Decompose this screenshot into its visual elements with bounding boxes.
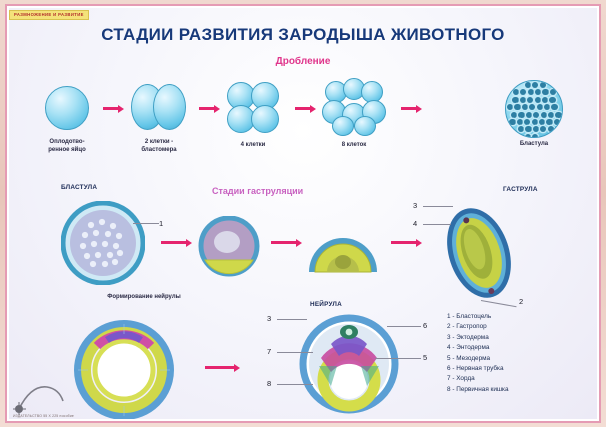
neurula-callout-5: 5 [423, 353, 427, 362]
blastula-cell-dot [525, 134, 531, 138]
legend-item-1: 1 - Бластоцель [447, 312, 509, 322]
blastula-cell-dot [532, 119, 538, 125]
blastula-cell-dot [511, 112, 517, 118]
cleavage-stage-2-label: 2 клетки - бластомера [119, 139, 199, 154]
blastula-cell-dot [551, 104, 557, 110]
neurula-cross-section [297, 310, 401, 414]
blastula-cell-dot [509, 119, 515, 125]
legend-item-7: 7 - Хорда [447, 374, 509, 384]
subtitle-cleavage: Дробление [9, 56, 597, 67]
blastula-cell-dot [525, 126, 531, 132]
cleavage-stage-1-label: Оплодотво- ренное яйцо [27, 139, 107, 154]
blastula-cell-dot [514, 104, 520, 110]
blastula-callout-leader [133, 223, 159, 224]
blastula-section-caption: БЛАСТУЛА [61, 184, 97, 191]
legend-item-8: 8 - Первичная кишка [447, 385, 509, 395]
category-tag: РАЗМНОЖЕНИЕ И РАЗВИТИЕ [9, 10, 89, 20]
neurula-callout-5-leader [375, 358, 421, 359]
page-title: СТАДИИ РАЗВИТИЯ ЗАРОДЫША ЖИВОТНОГО [9, 25, 597, 45]
gastrula-section-caption: ГАСТРУЛА [503, 186, 538, 193]
blastula-cell-dot [546, 119, 552, 125]
publisher-logo-icon [13, 381, 77, 415]
arrow-blastula-to-early-gastrula [161, 241, 187, 244]
blastula-cell-dot [527, 97, 533, 103]
neurula-callout-6: 6 [423, 321, 427, 330]
neurula-callout-7: 7 [267, 347, 271, 356]
blastula-cell-dot [512, 97, 518, 103]
blastula-cell-dot [541, 112, 547, 118]
blastula-cell-dot [549, 97, 555, 103]
blastula-cell-dot [518, 112, 524, 118]
blastula-cell-dot [526, 112, 532, 118]
gastrula-callout-4: 4 [413, 219, 417, 228]
legend-item-4: 4 - Энтодерма [447, 343, 509, 353]
blastula-cell-dot [555, 112, 561, 118]
cleavage-stage-3-label: 4 клетки [213, 142, 293, 150]
arrow-pre-neurula-to-neurula [205, 366, 235, 369]
gastrula-callout-3-leader [423, 206, 453, 207]
neurula-callout-8: 8 [267, 379, 271, 388]
neurula-caption: НЕЙРУЛА [310, 301, 342, 308]
legend-item-5: 5 - Мезодерма [447, 354, 509, 364]
blastula-cell-dot [520, 97, 526, 103]
neurula-callout-8-leader [277, 384, 313, 385]
blastula-cell-dot [522, 104, 528, 110]
cleavage-stage-2-cell-b [153, 84, 186, 130]
gastrula-cross-section [433, 198, 525, 308]
blastula-cell-dot [513, 89, 519, 95]
legend-item-2: 2 - Гастропор [447, 322, 509, 332]
cleavage-stage-4-cell-h [354, 116, 376, 136]
legend-item-3: 3 - Эктодерма [447, 333, 509, 343]
blastula-cell-dot [540, 82, 546, 88]
neurula-callout-7-leader [277, 352, 313, 353]
mid-gastrula-cross-section [305, 218, 381, 280]
blastula-cell-dot [537, 104, 543, 110]
neurula-formation-caption: Формирование нейрулы [54, 294, 234, 302]
blastula-cell-dot [528, 89, 534, 95]
gastrula-callout-2: 2 [519, 297, 523, 306]
blastula-cell-dot [520, 89, 526, 95]
cleavage-stage-4-cell-g [332, 116, 354, 136]
arrow-mid-gastrula-to-gastrula [391, 241, 417, 244]
blastula-cell-dot [554, 119, 560, 125]
arrow-stage-4-to-blastula [401, 107, 417, 110]
cleavage-stage-3-cell-d [251, 105, 279, 133]
blastula-cell-dot [532, 134, 538, 138]
neurula-callout-3-leader [277, 319, 307, 320]
cleavage-stage-5-blastula [505, 80, 563, 138]
arrow-stage-2-to-3 [199, 107, 215, 110]
cleavage-stage-4-label: 8 клеток [314, 142, 394, 150]
blastula-callout-1: 1 [159, 219, 163, 228]
blastula-cell-dot [525, 82, 531, 88]
blastula-cross-section [61, 201, 145, 285]
blastula-cell-dot [544, 104, 550, 110]
early-gastrula-cross-section [197, 216, 261, 280]
gastrula-callout-3: 3 [413, 201, 417, 210]
neurula-callout-3: 3 [267, 314, 271, 323]
poster-canvas: РАЗМНОЖЕНИЕ И РАЗВИТИЕ СТАДИИ РАЗВИТИЯ З… [9, 8, 597, 419]
section-title-gastrulation: Стадии гаструляции [212, 186, 303, 196]
pre-neurula-cross-section [71, 320, 177, 419]
blastula-cell-dot [532, 82, 538, 88]
arrow-stage-1-to-2 [103, 107, 119, 110]
cleavage-stage-5-label: Бластула [494, 141, 574, 149]
legend-list: 1 - Бластоцель 2 - Гастропор 3 - Эктодер… [447, 312, 509, 395]
blastula-cell-dot [524, 119, 530, 125]
blastula-cell-dot [539, 119, 545, 125]
cleavage-stage-1-cell [45, 86, 89, 130]
blastula-cell-dot [533, 126, 539, 132]
publisher-text: ИЗДАТЕЛЬСТВО 55 Х 225 пособие [13, 414, 74, 418]
poster-root: РАЗМНОЖЕНИЕ И РАЗВИТИЕ СТАДИИ РАЗВИТИЯ З… [0, 0, 606, 427]
blastula-cell-dot [542, 89, 548, 95]
legend-item-6: 6 - Нервная трубка [447, 364, 509, 374]
blastula-cell-dot [548, 126, 554, 132]
blastula-cell-dot [517, 119, 523, 125]
blastula-cell-dot [529, 104, 535, 110]
blastula-cell-dot [535, 97, 541, 103]
blastula-cell-dot [550, 89, 556, 95]
blastula-cell-dot [535, 89, 541, 95]
blastula-cell-dot [507, 104, 513, 110]
blastula-cell-dot [548, 112, 554, 118]
arrow-stage-3-to-4 [295, 107, 311, 110]
gastrula-callout-4-leader [423, 224, 451, 225]
blastula-cell-dot [518, 126, 524, 132]
blastula-cell-dot [542, 97, 548, 103]
arrow-early-to-mid-gastrula [271, 241, 297, 244]
blastula-cell-dot [540, 126, 546, 132]
blastula-cell-dot [533, 112, 539, 118]
neurula-callout-6-leader [387, 326, 421, 327]
